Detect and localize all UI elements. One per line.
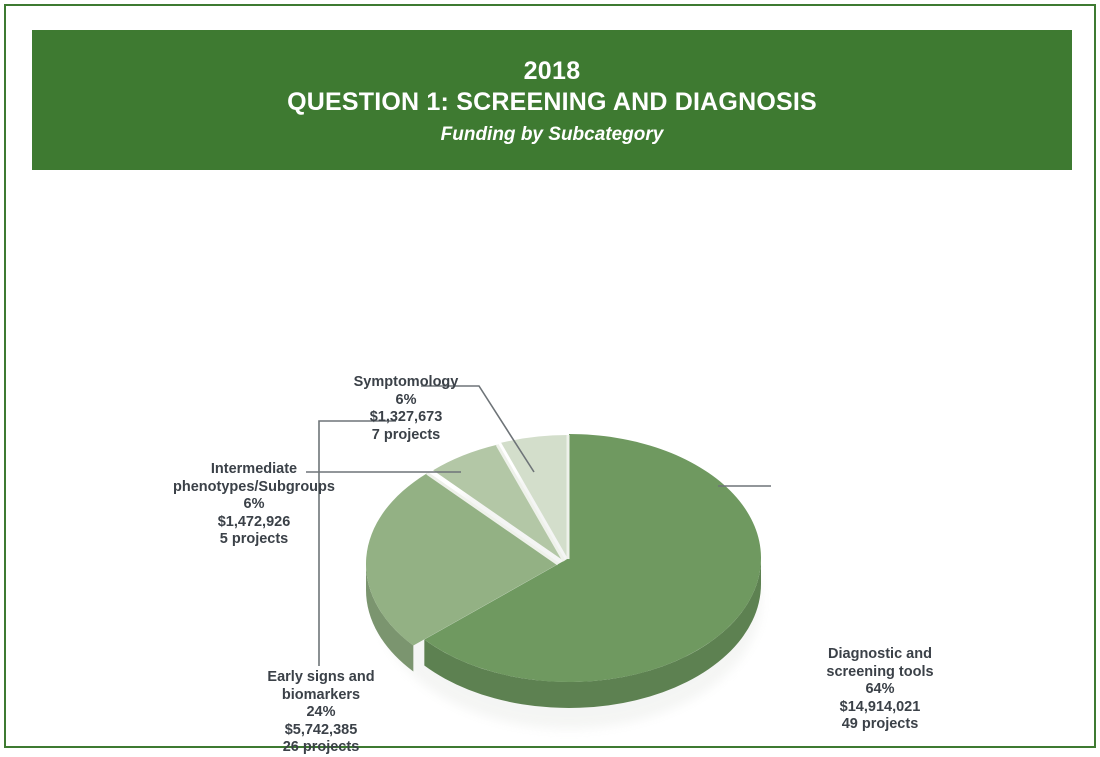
label-symptomology: Symptomology 6% $1,327,673 7 projects xyxy=(306,374,506,444)
label-intermediate: Intermediate phenotypes/Subgroups 6% $1,… xyxy=(154,461,354,549)
label-diagnostic-name1: Diagnostic and xyxy=(780,646,980,664)
report-page: 2018 QUESTION 1: SCREENING AND DIAGNOSIS… xyxy=(4,4,1096,748)
label-early-projects: 26 projects xyxy=(221,739,421,757)
label-early-name1: Early signs and xyxy=(221,669,421,687)
label-intermediate-amount: $1,472,926 xyxy=(154,514,354,532)
label-intermediate-percent: 6% xyxy=(154,496,354,514)
label-intermediate-name2: phenotypes/Subgroups xyxy=(154,479,354,497)
label-symptomology-amount: $1,327,673 xyxy=(306,409,506,427)
label-early-percent: 24% xyxy=(221,704,421,722)
label-early-amount: $5,742,385 xyxy=(221,722,421,740)
header-subtitle: Funding by Subcategory xyxy=(32,120,1072,150)
label-early-signs: Early signs and biomarkers 24% $5,742,38… xyxy=(221,669,421,757)
label-diagnostic-name2: screening tools xyxy=(780,664,980,682)
label-diagnostic-projects: 49 projects xyxy=(780,716,980,734)
label-diagnostic-percent: 64% xyxy=(780,681,980,699)
label-symptomology-name: Symptomology xyxy=(306,374,506,392)
label-intermediate-name1: Intermediate xyxy=(154,461,354,479)
label-early-name2: biomarkers xyxy=(221,687,421,705)
pie-chart-area: Symptomology 6% $1,327,673 7 projects In… xyxy=(6,176,1098,746)
header-question: QUESTION 1: SCREENING AND DIAGNOSIS xyxy=(32,86,1072,118)
label-intermediate-projects: 5 projects xyxy=(154,531,354,549)
label-symptomology-projects: 7 projects xyxy=(306,427,506,445)
header-year: 2018 xyxy=(32,56,1072,86)
label-diagnostic-amount: $14,914,021 xyxy=(780,699,980,717)
label-symptomology-percent: 6% xyxy=(306,392,506,410)
label-diagnostic: Diagnostic and screening tools 64% $14,9… xyxy=(780,646,980,734)
chart-header: 2018 QUESTION 1: SCREENING AND DIAGNOSIS… xyxy=(32,30,1072,170)
